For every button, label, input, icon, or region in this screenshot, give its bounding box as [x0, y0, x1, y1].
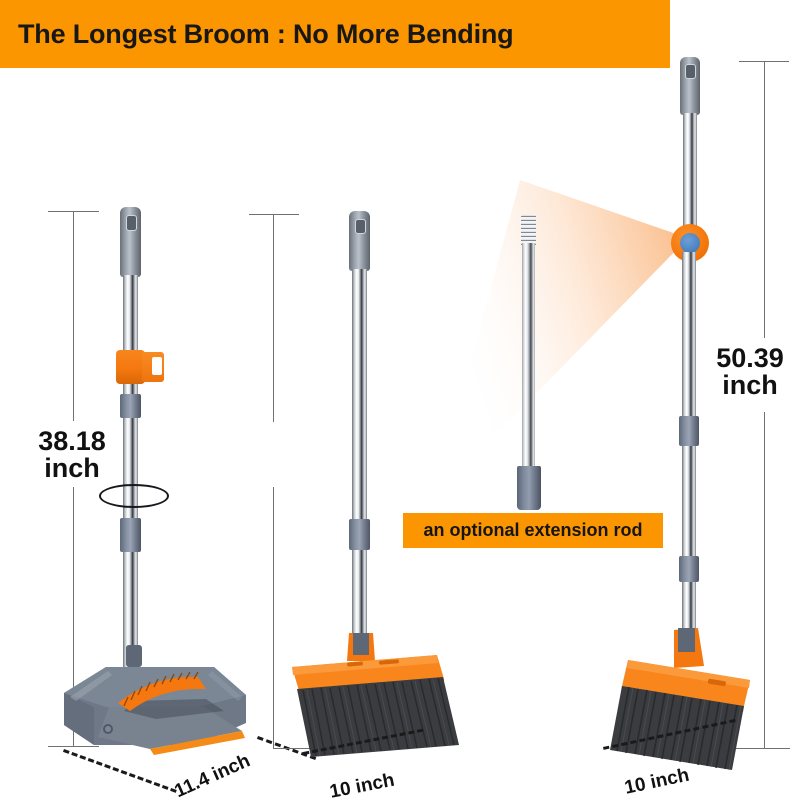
banner-title: The Longest Broom : No More Bending	[0, 19, 513, 50]
broom1-collar-lower	[120, 518, 141, 552]
left-height-unit: inch	[6, 455, 138, 482]
left-height-number: 38.18	[6, 428, 138, 455]
mid-dimension-tick-top	[249, 214, 299, 215]
dustpan	[46, 645, 266, 755]
extension-rod-end-cap	[517, 466, 541, 510]
broom1-hanging-hole	[126, 215, 137, 231]
broom3-collar-lower	[679, 556, 699, 582]
mid-dimension-line-lower	[273, 487, 274, 748]
right-dimension-line-upper	[764, 61, 765, 338]
right-height-unit: inch	[700, 372, 800, 399]
broom2-collar	[349, 519, 370, 550]
extension-joint-marker-center	[680, 233, 700, 253]
broom1-pole	[123, 275, 138, 685]
broom1-clip-body	[116, 350, 145, 384]
broom3-pole-lower	[682, 252, 696, 652]
product-infographic: The Longest Broom : No More Bending 38.1…	[0, 0, 800, 799]
dustpan-width-label: 11.4 inch	[172, 750, 254, 799]
broom2-width-label: 10 inch	[328, 770, 396, 799]
extension-rod-callout: an optional extension rod	[403, 513, 663, 548]
broom3-head	[592, 628, 792, 773]
extension-rod-shaft	[522, 243, 535, 501]
left-dimension-line-upper	[73, 211, 74, 421]
dustpan-depth-dash-left	[63, 749, 177, 793]
right-height-label: 50.39 inch	[700, 345, 800, 399]
extension-rod-thread	[521, 215, 536, 245]
broom1-clip-notch	[152, 357, 162, 375]
mid-dimension-line-upper	[273, 214, 274, 422]
broom2-pole	[352, 269, 367, 655]
broom1-collar-upper	[120, 394, 141, 418]
left-height-label: 38.18 inch	[6, 428, 138, 482]
broom3-collar	[679, 416, 699, 446]
extension-highlight-beam	[420, 180, 710, 510]
extension-rod-callout-text: an optional extension rod	[423, 520, 642, 541]
header-banner: The Longest Broom : No More Bending	[0, 0, 670, 68]
broom2-hanging-hole	[355, 219, 366, 234]
broom3-hanging-hole	[685, 64, 696, 79]
rotation-ring-icon	[99, 484, 169, 508]
right-height-number: 50.39	[700, 345, 800, 372]
